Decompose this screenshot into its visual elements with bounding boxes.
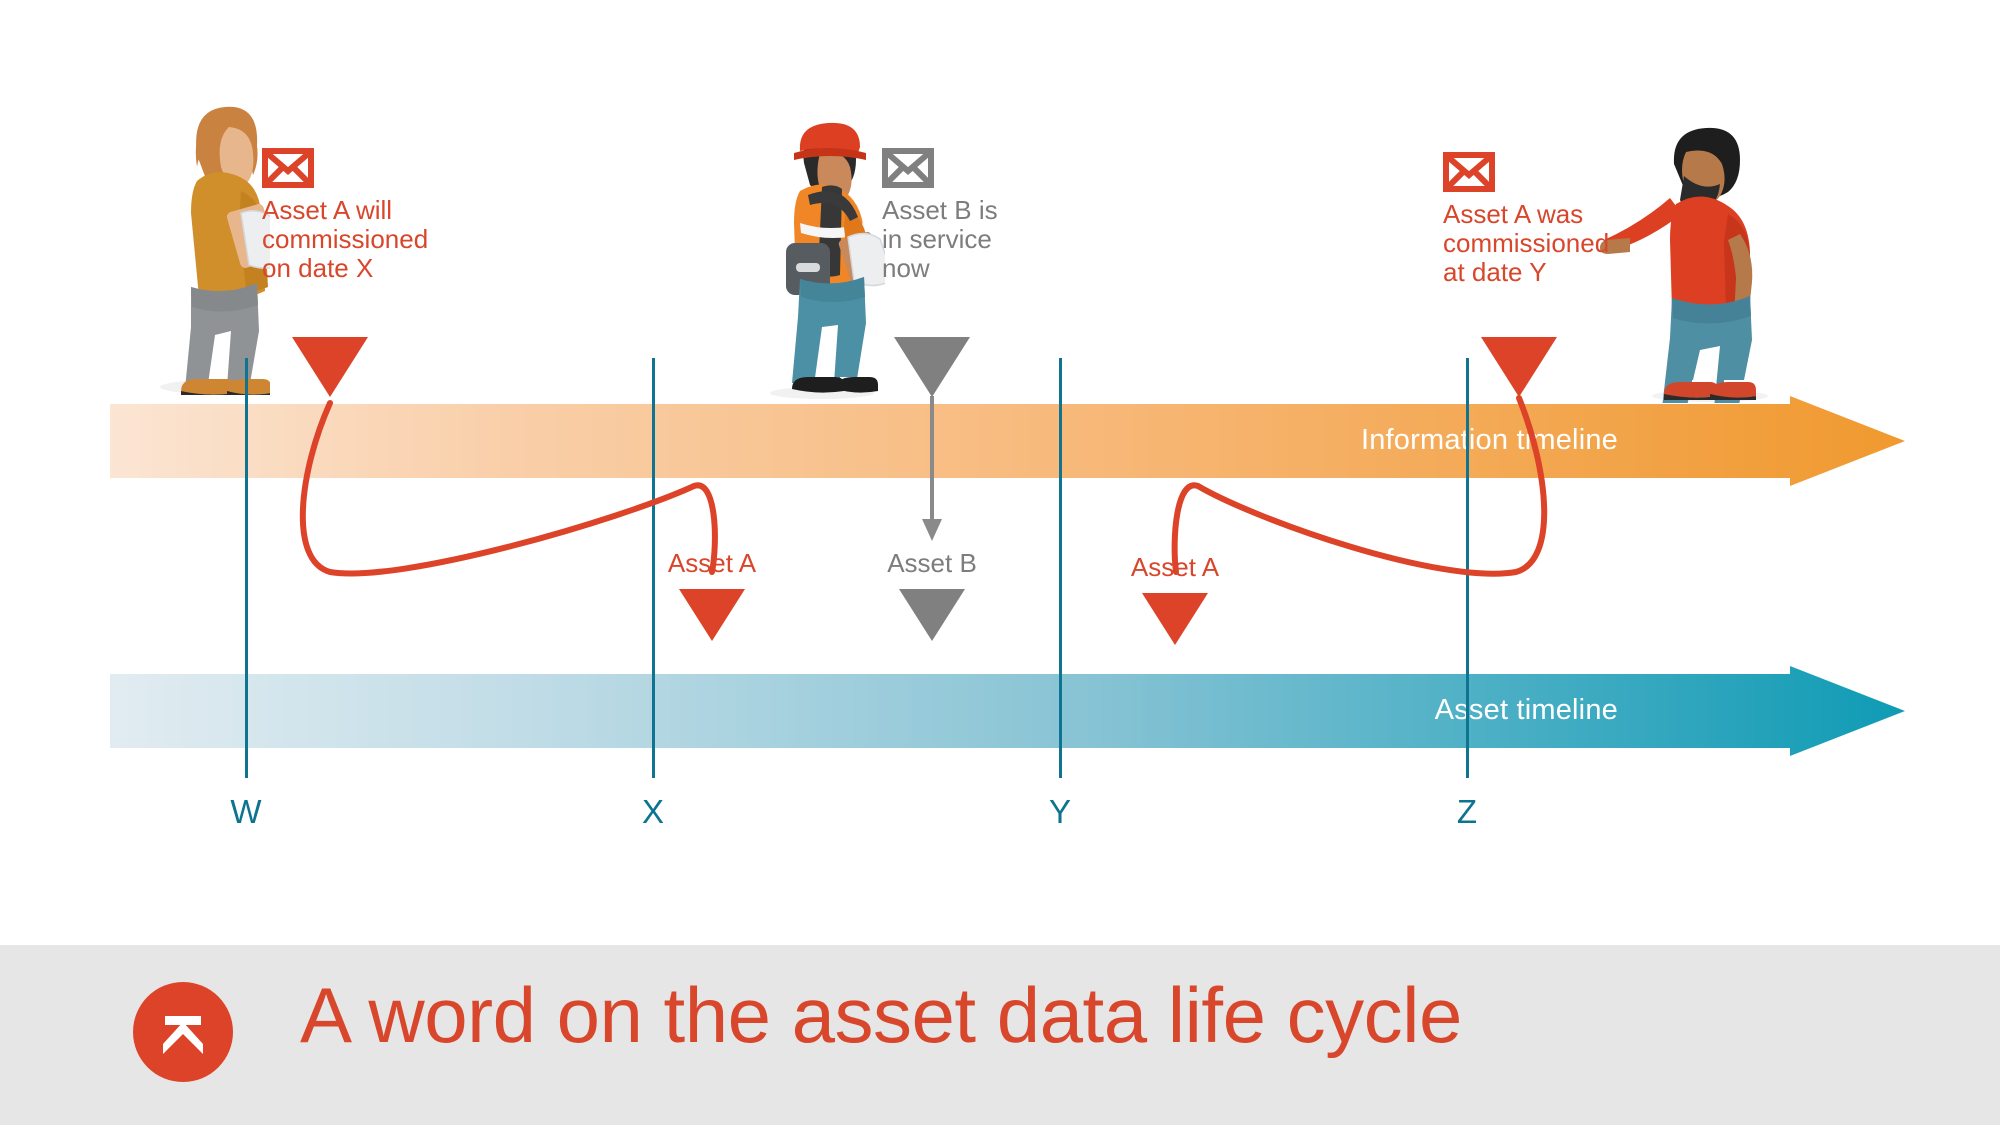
annotation-asset-a-was-commissioned: Asset A was commissioned at date Y: [1443, 152, 1609, 287]
marker-triangle-information-z: [1481, 337, 1557, 397]
annotation-asset-a-will-be-commissioned: Asset A will commissioned on date X: [262, 148, 428, 283]
asset-marker-label-asset-a-x: Asset A: [668, 548, 756, 579]
envelope-icon: [262, 148, 314, 188]
axis-label-w: W: [230, 793, 261, 831]
tick-line-z: [1466, 358, 1469, 778]
connector-now-arrowhead: [922, 519, 942, 541]
tick-line-w: [245, 358, 248, 778]
asset-timeline-label: Asset timeline: [1435, 694, 1618, 727]
marker-triangle-information-now: [894, 337, 970, 397]
footer-bar: A word on the asset data life cycle: [0, 945, 2000, 1125]
page-title: A word on the asset data life cycle: [300, 970, 1462, 1061]
tick-line-x: [652, 358, 655, 778]
axis-label-z: Z: [1457, 793, 1477, 831]
annotation-text: Asset B is in service now: [882, 196, 998, 283]
annotation-text: Asset A was commissioned at date Y: [1443, 200, 1609, 287]
man-pointing-illustration: [1600, 118, 1780, 403]
marker-triangle-information-w: [292, 337, 368, 397]
marker-triangle-asset-a-x: [679, 589, 745, 641]
envelope-icon: [1443, 152, 1495, 192]
axis-label-x: X: [642, 793, 664, 831]
asset-marker-label-asset-a-y: Asset A: [1131, 552, 1219, 583]
asset-marker-label-asset-b: Asset B: [887, 548, 977, 579]
brand-logo: [133, 982, 233, 1082]
axis-label-y: Y: [1049, 793, 1071, 831]
annotation-text: Asset A will commissioned on date X: [262, 196, 428, 283]
information-timeline-label: Information timeline: [1361, 424, 1618, 457]
slide-canvas: Information timeline Asset timeline W X …: [0, 0, 2000, 1125]
information-timeline-bar: Information timeline: [0, 396, 1910, 486]
marker-triangle-asset-a-y: [1142, 593, 1208, 645]
tick-line-y: [1059, 358, 1062, 778]
envelope-icon: [882, 148, 934, 188]
field-worker-illustration: [760, 115, 885, 400]
marker-triangle-asset-b: [899, 589, 965, 641]
brand-logo-icon: [155, 1004, 211, 1060]
asset-timeline-bar: Asset timeline: [0, 666, 1910, 756]
annotation-asset-b-in-service: Asset B is in service now: [882, 148, 998, 283]
woman-with-tablet-illustration: [145, 95, 270, 395]
